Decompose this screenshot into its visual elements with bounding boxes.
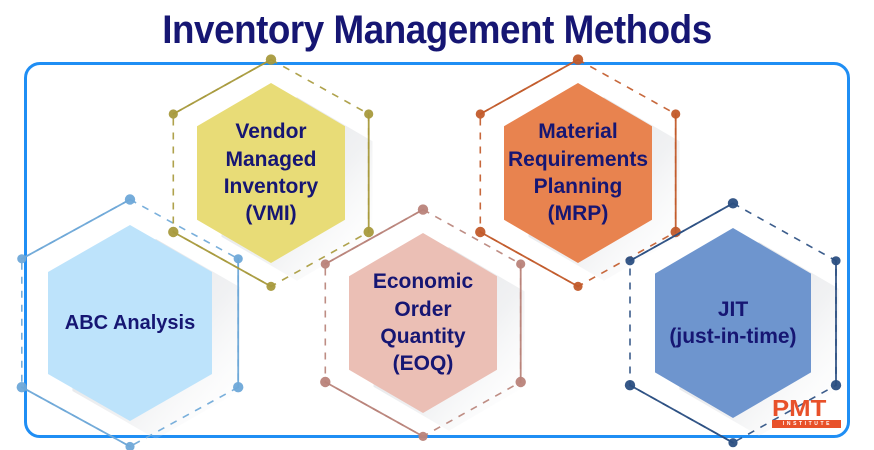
hexagon-label-line: Order [394,296,451,323]
hexagon-label-line: (EOQ) [393,350,454,377]
hexagon-label-line: JIT [718,296,748,323]
hexagon-label-line: Vendor [235,118,306,145]
logo-wordmark: PMT [772,398,853,419]
hexagon-label-line: Economic [373,268,473,295]
infographic-root: Inventory Management Methods ABC Analysi… [0,0,874,450]
hexagon-label-line: (VMI) [245,200,296,227]
logo-subtitle: INSTITUTE [772,420,841,428]
hexagon-label-line: Inventory [224,173,319,200]
page-title: Inventory Management Methods [35,6,839,54]
hexagon-label-line: (just-in-time) [669,323,796,350]
hexagon-label-line: ABC Analysis [65,310,195,336]
hexagon-label-line: (MRP) [548,200,609,227]
hexagon-label-line: Requirements [508,146,648,173]
hexagon-vertex-dot-abc-analysis-3 [125,442,134,450]
hexagon-label-line: Quantity [380,323,465,350]
hexagon-label-line: Material [538,118,617,145]
hexagon-label-jit: JIT(just-in-time) [608,228,858,418]
hexagon-label-line: Managed [225,146,316,173]
pmt-institute-logo[interactable]: PMT INSTITUTE [772,398,844,428]
hexagon-vertex-dot-jit-3 [728,438,737,447]
hexagon-label-line: Planning [534,173,623,200]
